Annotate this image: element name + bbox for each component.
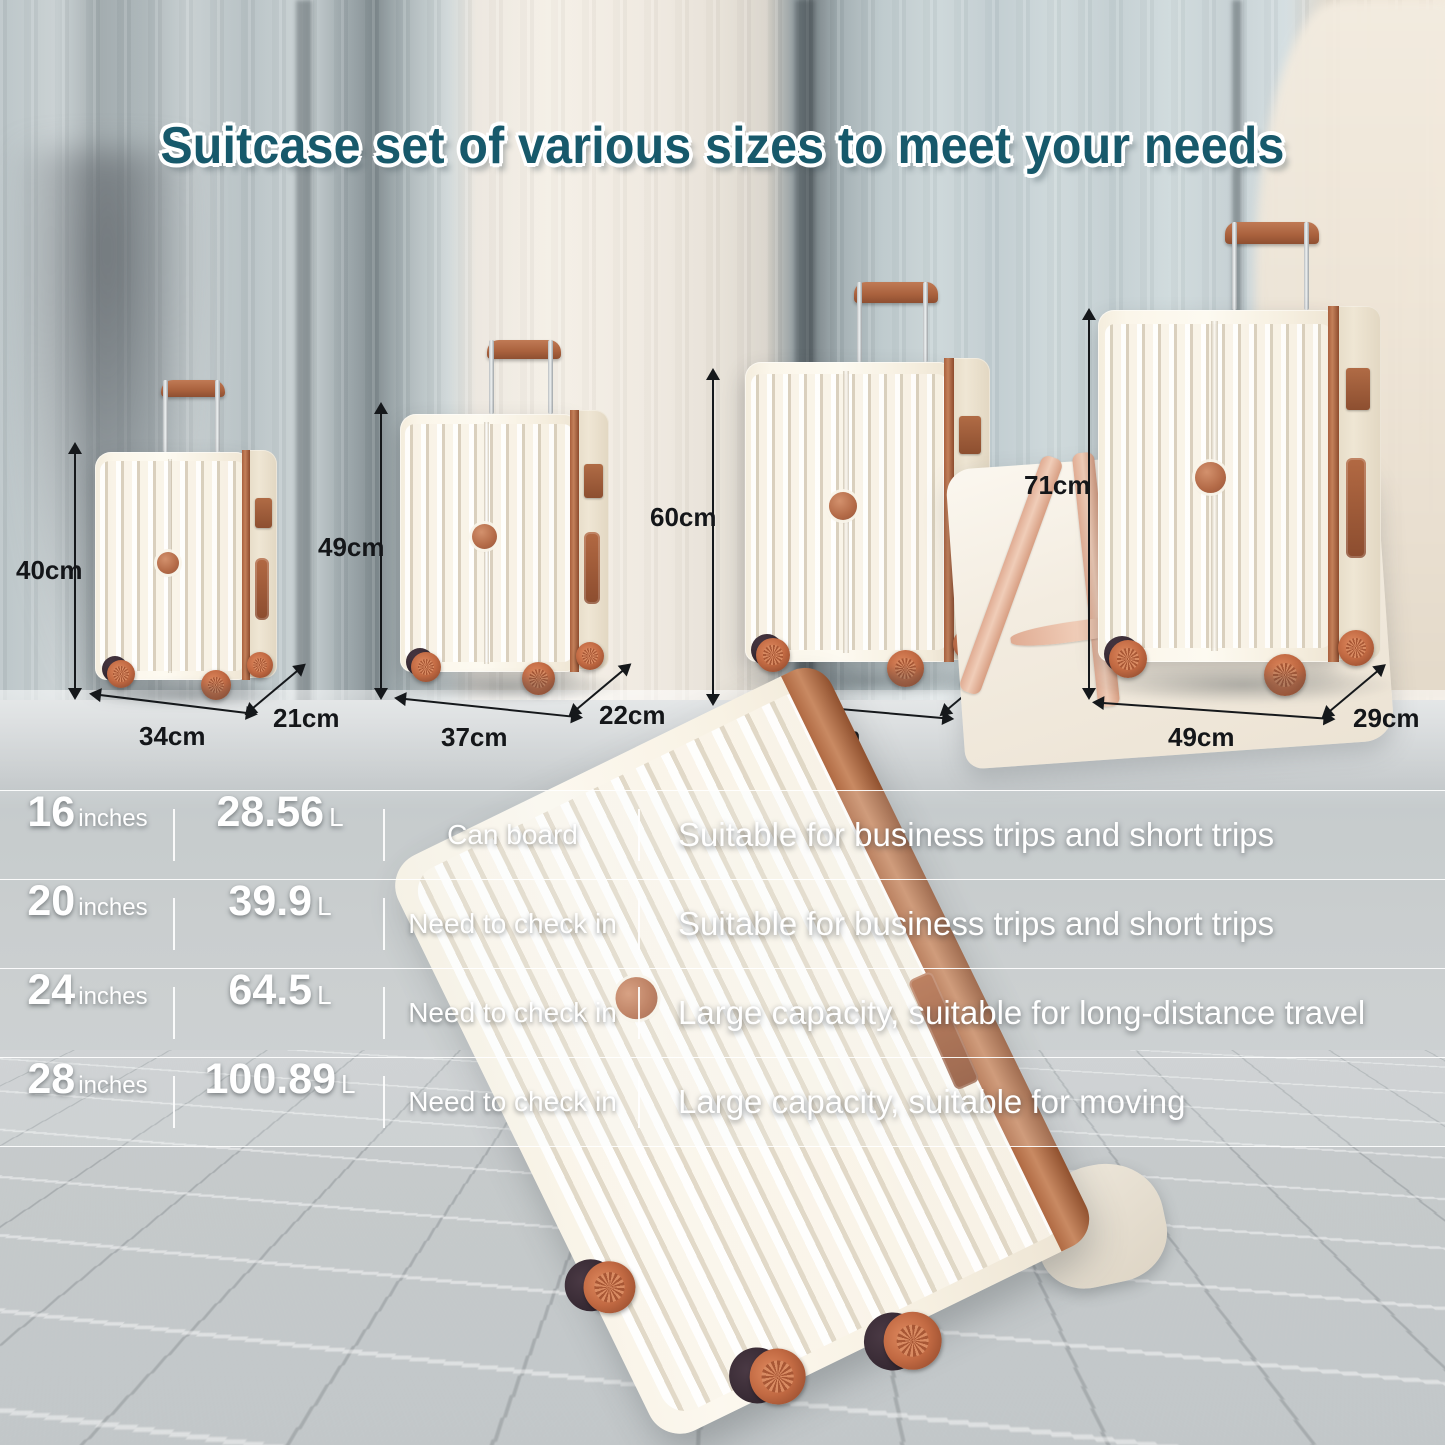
handle-rod-left [1232,222,1237,310]
handle-rod-left [857,282,862,362]
spinner-wheel-fl [756,638,790,672]
description-text: Large capacity, suitable for moving [678,1083,1186,1121]
spinner-wheel-br [1338,630,1374,666]
size-value: 28 [27,1058,75,1101]
handle-rod-right [215,380,220,452]
size-cell: 20 inches [0,880,175,968]
brand-logo-badge [1195,462,1226,493]
boarding-status: Can board [447,819,578,851]
capacity-value: 28.56 [216,791,324,834]
capacity-unit: L [329,802,343,833]
suitcase-16 [95,380,290,700]
size-value: 20 [27,880,75,923]
table-row: 20 inches 39.9 L Need to check in Suitab… [0,879,1445,968]
depth-label-28: 29cm [1353,703,1420,734]
suitcase-shell [95,452,250,680]
suitcase-shell [745,362,953,662]
boarding-status: Need to check in [408,908,617,940]
handle-rod-left [163,380,168,452]
description-text: Suitable for business trips and short tr… [678,905,1274,943]
boarding-cell: Can board [385,791,640,879]
width-label-20: 37cm [441,722,508,753]
suitcase-shell [1098,310,1338,662]
spinner-wheel-br [576,642,604,670]
tsa-lock [959,416,981,454]
depth-label-16: 21cm [273,703,340,734]
capacity-value: 39.9 [228,880,312,923]
brand-logo-badge [472,524,497,549]
description-cell: Suitable for business trips and short tr… [640,880,1445,968]
width-label-28: 49cm [1168,722,1235,753]
tsa-lock [255,498,272,528]
capacity-cell: 28.56 L [175,791,385,879]
suitcase-trim [1328,306,1339,662]
specification-table: 16 inches 28.56 L Can board Suitable for… [0,790,1445,1142]
suitcase-trim [242,450,250,680]
boarding-cell: Need to check in [385,969,640,1057]
side-carry-handle [1346,458,1366,558]
infographic-canvas: Suitcase set of various sizes to meet yo… [0,0,1445,1445]
size-cell: 24 inches [0,969,175,1057]
handle-rod-right [548,340,553,414]
size-value: 16 [27,791,75,834]
suitcase-ground-shadow [1090,666,1396,704]
capacity-cell: 39.9 L [175,880,385,968]
capacity-unit: L [317,891,331,922]
height-arrow-24 [712,378,714,696]
size-unit: inches [78,983,147,1011]
height-label-16: 40cm [16,555,83,586]
suitcase-shell [400,414,578,672]
suitcase-28 [1098,222,1398,702]
height-arrow-28 [1088,318,1090,690]
depth-label-20: 22cm [599,700,666,731]
capacity-value: 100.89 [205,1058,337,1101]
handle-rod-right [923,282,928,362]
description-text: Suitable for business trips and short tr… [678,816,1274,854]
size-cell: 28 inches [0,1058,175,1146]
table-row: 28 inches 100.89 L Need to check in Larg… [0,1057,1445,1147]
description-text: Large capacity, suitable for long-distan… [678,994,1365,1032]
size-unit: inches [78,1072,147,1100]
capacity-cell: 64.5 L [175,969,385,1057]
boarding-status: Need to check in [408,1086,617,1118]
boarding-cell: Need to check in [385,1058,640,1146]
title-banner: Suitcase set of various sizes to meet yo… [0,100,1445,192]
table-row: 24 inches 64.5 L Need to check in Large … [0,968,1445,1057]
height-label-20: 49cm [318,532,385,563]
description-cell: Large capacity, suitable for long-distan… [640,969,1445,1057]
handle-rod-right [1304,222,1309,310]
tsa-lock [584,464,603,498]
height-label-24: 60cm [650,502,717,533]
handle-rod-left [489,340,494,414]
boarding-status: Need to check in [408,997,617,1029]
width-label-16: 34cm [139,721,206,752]
brand-logo-badge [157,552,179,574]
size-cell: 16 inches [0,791,175,879]
capacity-unit: L [317,980,331,1011]
table-row: 16 inches 28.56 L Can board Suitable for… [0,790,1445,879]
description-cell: Large capacity, suitable for moving [640,1058,1445,1146]
side-carry-handle [255,558,269,620]
size-unit: inches [78,805,147,833]
capacity-value: 64.5 [228,969,312,1012]
size-value: 24 [27,969,75,1012]
capacity-unit: L [341,1069,355,1100]
capacity-cell: 100.89 L [175,1058,385,1146]
spinner-wheel-br [247,652,273,678]
size-unit: inches [78,894,147,922]
suitcase-20 [400,340,625,700]
height-label-28: 71cm [1024,470,1091,501]
brand-logo-badge [829,492,857,520]
page-title: Suitcase set of various sizes to meet yo… [160,116,1284,176]
description-cell: Suitable for business trips and short tr… [640,791,1445,879]
boarding-cell: Need to check in [385,880,640,968]
suitcase-trim [570,410,579,672]
tsa-lock [1346,368,1370,410]
side-carry-handle [584,532,600,604]
